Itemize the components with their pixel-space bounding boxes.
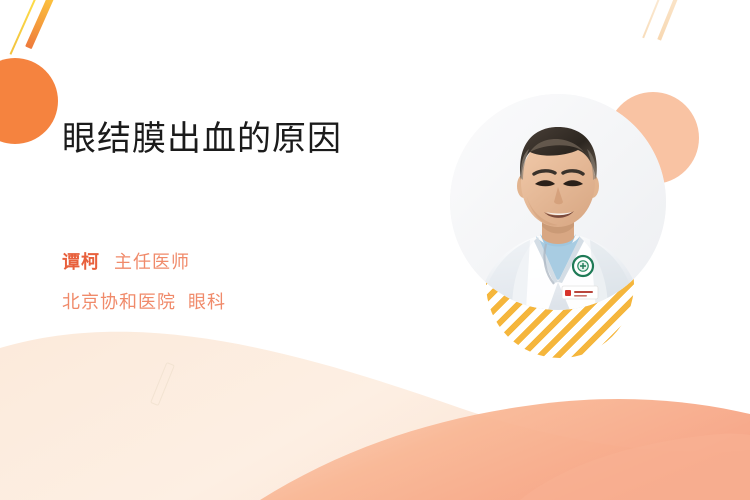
faint-stripe-right-inner-icon (657, 0, 682, 41)
doctor-portrait-illustration (450, 94, 666, 310)
thin-yellow-stripe-icon (10, 0, 40, 55)
doctor-portrait-photo (450, 94, 666, 310)
orange-circle-decoration (0, 58, 58, 144)
portrait-cluster (432, 88, 692, 368)
name-tag (562, 286, 598, 299)
hospital-emblem-badge (572, 255, 594, 277)
page-title: 眼结膜出血的原因 (62, 118, 342, 161)
doctor-name: 谭柯 (62, 252, 100, 272)
hospital-name: 北京协和医院 (62, 292, 176, 312)
doctor-professional-title: 主任医师 (114, 252, 190, 272)
doctor-intro-card: 眼结膜出血的原因 谭柯主任医师 北京协和医院眼科 (0, 0, 750, 500)
faint-stripe-right-outer-icon (642, 0, 666, 38)
outlined-slash-decoration (150, 362, 175, 406)
doctor-name-row: 谭柯主任医师 (62, 248, 190, 274)
department-name: 眼科 (188, 292, 226, 312)
orange-gradient-stripe-icon (25, 0, 58, 49)
doctor-affiliation-row: 北京协和医院眼科 (62, 288, 226, 314)
